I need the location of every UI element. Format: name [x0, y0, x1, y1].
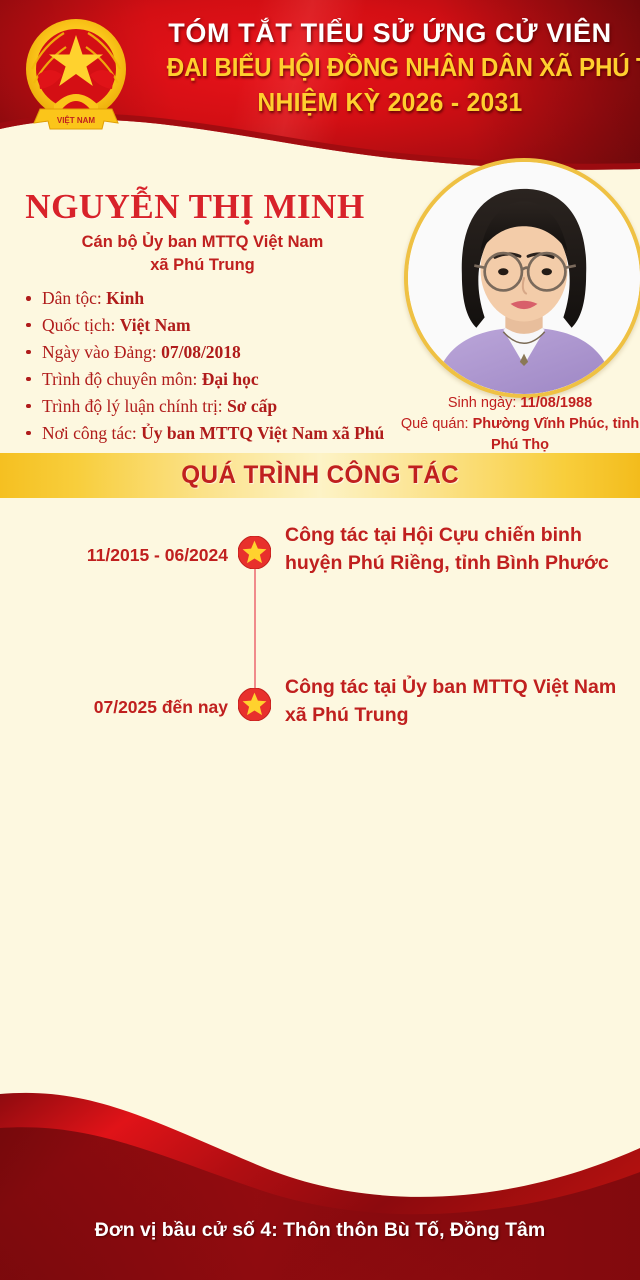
fact-label: Ngày vào Đảng:	[42, 342, 157, 362]
timeline-entry-date: 11/2015 - 06/2024	[0, 545, 228, 566]
fact-value: Đại học	[202, 369, 259, 389]
fact-item: Ngày vào Đảng: 07/08/2018	[20, 339, 395, 366]
hometown-label: Quê quán:	[401, 416, 469, 432]
fact-item: Dân tộc: Kinh	[20, 285, 395, 312]
fact-item: Trình độ lý luận chính trị: Sơ cấp	[20, 393, 395, 420]
birth-date-value: 11/08/1988	[520, 395, 592, 411]
hometown-value: Phường Vĩnh Phúc, tỉnh Phú Thọ	[473, 416, 640, 453]
timeline-entry-description: Công tác tại Ủy ban MTTQ Việt Nam xã Phú…	[285, 674, 637, 729]
candidate-name: NGUYỄN THỊ MINH	[0, 187, 390, 227]
poster-title-main: TÓM TẮT TIỂU SỬ ỨNG CỬ VIÊN	[150, 18, 630, 48]
work-history-section-banner: QUÁ TRÌNH CÔNG TÁC	[0, 453, 640, 498]
candidate-photo	[404, 158, 640, 398]
birth-date-label: Sinh ngày:	[448, 395, 517, 411]
fact-label: Trình độ chuyên môn:	[42, 369, 197, 389]
candidate-role-line1: Cán bộ Ủy ban MTTQ Việt Nam	[82, 233, 324, 251]
header-title-group: TÓM TẮT TIỂU SỬ ỨNG CỬ VIÊN ĐẠI BIỂU HỘI…	[150, 18, 630, 118]
timeline-star-marker-icon	[238, 536, 271, 569]
timeline-entry-description: Công tác tại Hội Cựu chiến binh huyện Ph…	[285, 522, 637, 577]
candidate-role-line2: xã Phú Trung	[150, 256, 255, 274]
poster-title-term: NHIỆM KỲ 2026 - 2031	[162, 86, 618, 119]
national-emblem-icon: VIỆT NAM	[14, 9, 138, 137]
fact-value: Kinh	[106, 288, 144, 308]
poster-title-council: ĐẠI BIỂU HỘI ĐỒNG NHÂN DÂN XÃ PHÚ TRUNG	[167, 51, 613, 84]
fact-item: Trình độ chuyên môn: Đại học	[20, 366, 395, 393]
work-history-timeline: 11/2015 - 06/2024 Công tác tại Hội Cựu c…	[0, 498, 640, 798]
fact-label: Nơi công tác:	[42, 423, 137, 443]
candidate-facts-list: Dân tộc: Kinh Quốc tịch: Việt Nam Ngày v…	[20, 285, 395, 474]
candidate-role: Cán bộ Ủy ban MTTQ Việt Nam xã Phú Trung	[30, 231, 375, 278]
candidate-biography-poster: VIỆT NAM TÓM TẮT TIỂU SỬ ỨNG CỬ VIÊN ĐẠI…	[0, 0, 640, 1280]
fact-label: Trình độ lý luận chính trị:	[42, 396, 223, 416]
fact-label: Dân tộc:	[42, 288, 102, 308]
fact-value: 07/08/2018	[161, 342, 241, 362]
fact-label: Quốc tịch:	[42, 315, 115, 335]
fact-value: Việt Nam	[120, 315, 191, 335]
work-history-section-title: QUÁ TRÌNH CÔNG TÁC	[181, 461, 459, 490]
timeline-entry-date: 07/2025 đến nay	[0, 697, 228, 718]
timeline-star-marker-icon	[238, 688, 271, 721]
emblem-motto-text: VIỆT NAM	[57, 116, 96, 125]
candidate-birth-info: Sinh ngày: 11/08/1988 Quê quán: Phường V…	[396, 393, 640, 456]
footer-wave-decoration	[0, 1080, 640, 1280]
fact-item: Quốc tịch: Việt Nam	[20, 312, 395, 339]
fact-value: Sơ cấp	[227, 396, 277, 416]
poster-header: VIỆT NAM TÓM TẮT TIỂU SỬ ỨNG CỬ VIÊN ĐẠI…	[0, 0, 640, 175]
electoral-unit-footer: Đơn vị bầu cử số 4: Thôn thôn Bù Tố, Đồn…	[0, 1219, 640, 1242]
portrait-illustration	[408, 162, 640, 394]
candidate-profile-section: NGUYỄN THỊ MINH Cán bộ Ủy ban MTTQ Việt …	[0, 175, 640, 453]
